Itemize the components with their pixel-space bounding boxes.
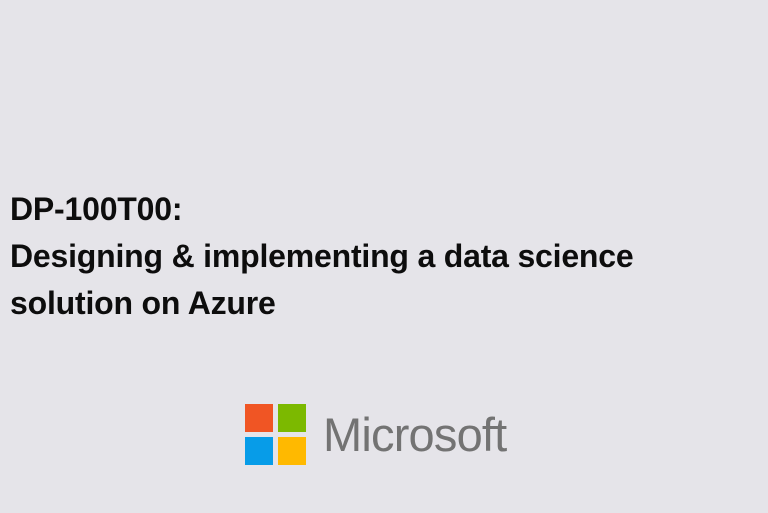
title-line-course-name-part1: Designing & implementing a data science xyxy=(10,233,750,280)
title-line-course-code: DP-100T00: xyxy=(10,186,750,233)
microsoft-logo: Microsoft xyxy=(245,404,506,465)
microsoft-logo-icon xyxy=(245,404,306,465)
logo-square-blue xyxy=(245,437,273,465)
logo-square-green xyxy=(278,404,306,432)
presentation-slide: DP-100T00: Designing & implementing a da… xyxy=(0,0,768,513)
logo-square-yellow xyxy=(278,437,306,465)
logo-square-red xyxy=(245,404,273,432)
slide-title-block: DP-100T00: Designing & implementing a da… xyxy=(10,186,750,327)
microsoft-wordmark: Microsoft xyxy=(323,404,506,465)
title-line-course-name-part2: solution on Azure xyxy=(10,280,750,327)
